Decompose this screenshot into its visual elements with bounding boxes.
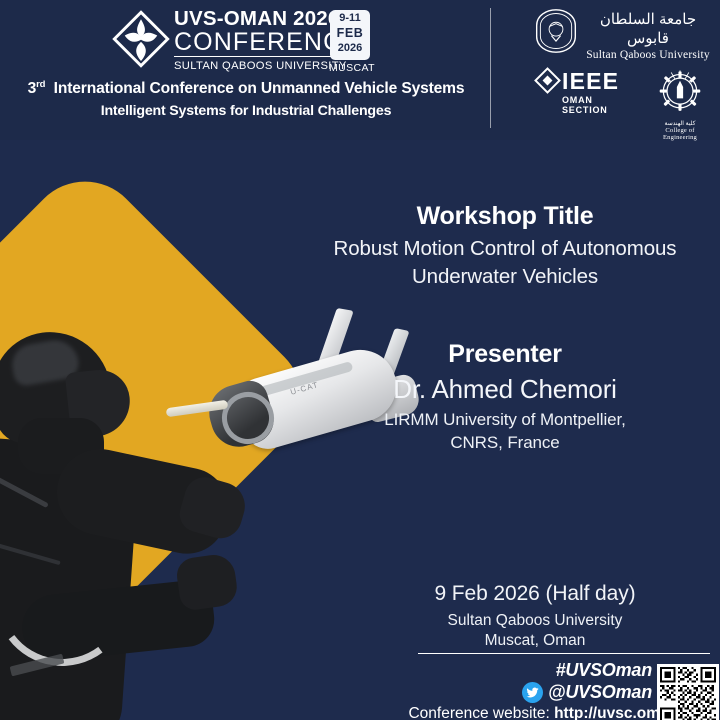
squ-name-english: Sultan Qaboos University (583, 48, 713, 62)
conference-name: International Conference on Unmanned Veh… (54, 80, 465, 97)
squ-name-arabic: جامعة السلطان قابوس (583, 10, 713, 48)
ieee-wordmark: IEEE (562, 68, 619, 94)
presenter-name: Dr. Ahmed Chemori (290, 374, 720, 405)
date-chip-days: 9-11 (330, 11, 370, 25)
workshop-title-line-1: Robust Motion Control of Autonomous (290, 235, 720, 263)
workshop-title-line-2: Underwater Vehicles (290, 263, 720, 291)
conference-subtitle-line-2: Intelligent Systems for Industrial Chall… (0, 103, 492, 119)
logo-city-label: MUSCAT (328, 62, 376, 74)
qr-code-image (660, 667, 716, 720)
poster-header: UVS-OMAN 2026 CONFERENCE SULTAN QABOOS U… (0, 0, 720, 140)
website-label: Conference website: (408, 705, 554, 720)
uvs-oman-logo: UVS-OMAN 2026 CONFERENCE SULTAN QABOOS U… (112, 8, 382, 70)
conference-subtitle-line-1: 3rd International Conference on Unmanned… (0, 79, 492, 98)
hashtag-label: #UVSOman (556, 660, 652, 681)
date-chip-year: 2026 (330, 41, 370, 56)
poster-content: Workshop Title Robust Motion Control of … (400, 140, 720, 720)
presenter-heading: Presenter (290, 340, 720, 369)
presenter-affiliation-line-1: LIRMM University of Montpellier, (290, 408, 720, 431)
ieee-logo: IEEE OMAN SECTION (538, 68, 634, 108)
squ-seal-icon (533, 8, 579, 54)
conference-website[interactable]: Conference website: http://uvsc.om (400, 705, 660, 720)
venue-line-1: Sultan Qaboos University (350, 612, 720, 630)
conference-poster: UVS-OMAN 2026 CONFERENCE SULTAN QABOOS U… (0, 0, 720, 720)
event-date: 9 Feb 2026 (Half day) (350, 582, 720, 606)
qr-code[interactable] (657, 664, 719, 720)
college-of-engineering-logo: كلية الهندسة College of Engineering (648, 62, 712, 132)
coe-name-english: College of Engineering (648, 127, 712, 141)
ieee-section-label: OMAN SECTION (562, 95, 634, 115)
date-chip: 9-11 FEB 2026 (330, 10, 370, 60)
ieee-diamond-icon (534, 67, 561, 94)
presenter-affiliation: LIRMM University of Montpellier, CNRS, F… (290, 408, 720, 454)
gear-tower-icon (654, 62, 706, 114)
website-url[interactable]: http://uvsc.om (554, 705, 660, 720)
uvs-logo-mark (112, 10, 170, 68)
date-chip-month: FEB (330, 25, 370, 41)
workshop-title-text: Robust Motion Control of Autonomous Unde… (290, 235, 720, 291)
twitter-handle-row[interactable]: @UVSOman (522, 682, 652, 703)
ordinal-suffix: rd (36, 79, 45, 90)
presenter-affiliation-line-2: CNRS, France (290, 431, 720, 454)
social-section: #UVSOman @UVSOman Conference website: ht… (400, 660, 720, 718)
workshop-title-heading: Workshop Title (290, 202, 720, 231)
coe-name-arabic: كلية الهندسة (648, 120, 712, 127)
ordinal-number: 3 (28, 80, 37, 97)
squ-wordmark: جامعة السلطان قابوس Sultan Qaboos Univer… (583, 10, 713, 62)
twitter-icon[interactable] (522, 682, 543, 703)
header-vertical-divider (490, 8, 491, 128)
venue-line-2: Muscat, Oman (350, 632, 720, 650)
diver-glove-lower (175, 552, 240, 612)
twitter-handle[interactable]: @UVSOman (548, 682, 652, 703)
squ-logo: جامعة السلطان قابوس Sultan Qaboos Univer… (533, 8, 713, 56)
footer-divider (418, 653, 710, 654)
